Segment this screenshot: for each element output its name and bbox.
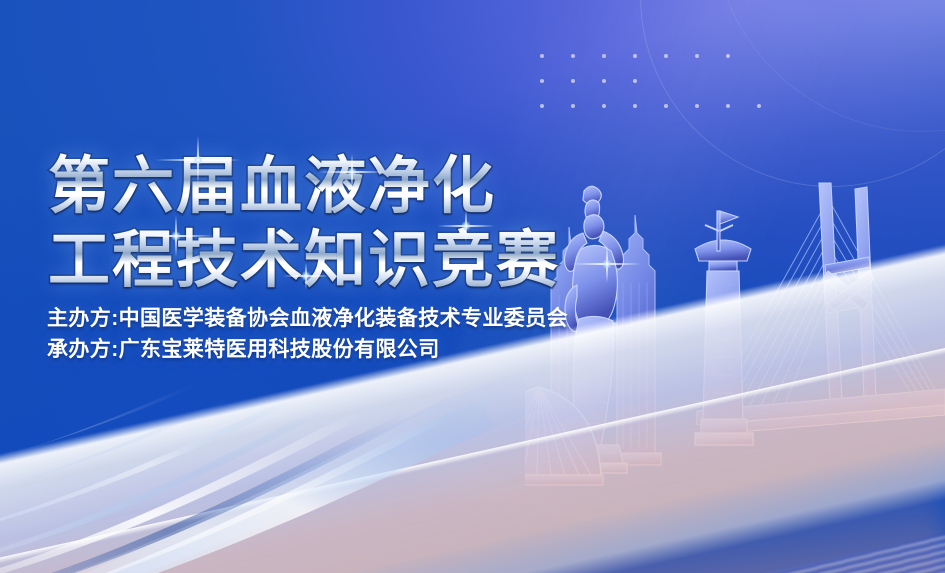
grid-dot — [695, 54, 699, 58]
grid-dot — [540, 54, 544, 58]
poster-subtitle-block: 主办方:中国医学装备协会血液净化装备技术专业委员会 承办方:广东宝莱特医用科技股… — [47, 303, 568, 365]
grid-dot — [633, 104, 637, 108]
grid-dot — [633, 54, 637, 58]
event-poster: 第六届血液净化 第六届血液净化 工程技术知识竞赛 工程技术知识竞赛 主办方:中国… — [0, 0, 945, 573]
grid-dot — [664, 104, 668, 108]
grid-dot — [571, 54, 575, 58]
title-line-2-wrap: 工程技术知识竞赛 工程技术知识竞赛 — [48, 224, 560, 298]
grid-dot — [602, 54, 606, 58]
grid-dot — [602, 79, 606, 83]
grid-dot — [633, 79, 637, 83]
grid-dot — [757, 104, 761, 108]
subtitle-organizer: 主办方:中国医学装备协会血液净化装备技术专业委员会 — [47, 303, 568, 334]
grid-dot — [726, 104, 730, 108]
grid-dot — [540, 79, 544, 83]
title-line-2: 工程技术知识竞赛 — [48, 224, 560, 298]
grid-dot — [726, 54, 730, 58]
subtitle-undertaker: 承办方:广东宝莱特医用科技股份有限公司 — [47, 334, 568, 365]
grid-dot — [571, 79, 575, 83]
poster-title-block: 第六届血液净化 第六届血液净化 工程技术知识竞赛 工程技术知识竞赛 — [48, 150, 560, 298]
grid-dot — [540, 104, 544, 108]
grid-dot — [695, 104, 699, 108]
grid-dot — [664, 54, 668, 58]
grid-dot — [602, 104, 606, 108]
title-line-1: 第六届血液净化 — [48, 150, 560, 224]
title-line-1-wrap: 第六届血液净化 第六届血液净化 — [48, 150, 560, 224]
grid-dot — [571, 104, 575, 108]
